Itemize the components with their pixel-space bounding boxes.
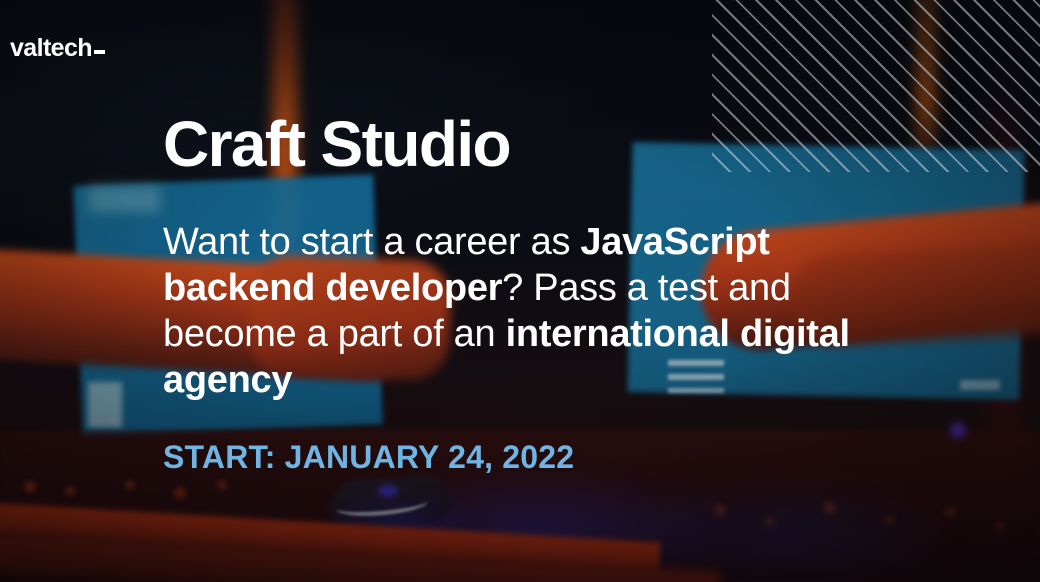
promo-banner: valtech Craft Studio Want to start a car… <box>0 0 1040 582</box>
valtech-logo[interactable]: valtech <box>10 36 105 61</box>
banner-content: valtech Craft Studio Want to start a car… <box>0 0 1040 582</box>
valtech-logo-text: valtech <box>10 36 92 61</box>
start-date-label: START: JANUARY 24, 2022 <box>163 438 574 476</box>
body-copy: Want to start a career as JavaScript bac… <box>163 219 893 403</box>
body-copy-segment-0: Want to start a career as <box>163 221 580 263</box>
underscore-mark-icon <box>94 50 105 54</box>
page-title: Craft Studio <box>163 112 510 176</box>
